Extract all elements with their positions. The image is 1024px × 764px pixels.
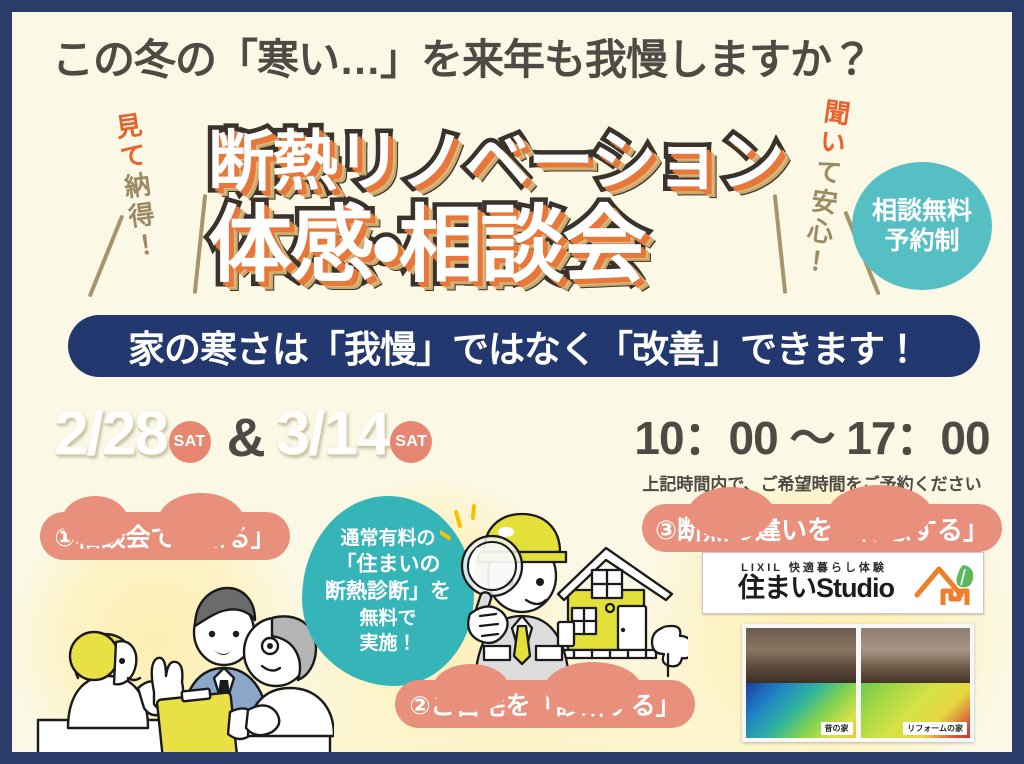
badge-line2: 予約制: [884, 226, 959, 257]
decor-slash-3: [773, 194, 787, 294]
date-2: 3/14: [276, 398, 389, 469]
kicker-right: 聞いて安心！: [795, 96, 857, 279]
kicker-right-orange: 聞い: [814, 97, 852, 161]
diagnosis-line1: 通常有料の: [325, 526, 451, 551]
kicker-left: 見て納得！: [108, 110, 166, 264]
poster-root: この冬の「寒い…」を来年も我慢しますか？ 見て納得！ 聞いて安心！ 断熱リノベー…: [0, 0, 1024, 764]
free-consult-badge: 相談無料 予約制: [852, 162, 992, 290]
event-time: 10：00 ～ 17：00: [617, 402, 1007, 468]
thermal-photo-old: 昔の家: [746, 683, 856, 738]
diagnosis-line3: 断熱診断」を: [325, 578, 451, 606]
kicker-left-brown: 納得！: [119, 170, 161, 263]
decor-slash-1: [88, 214, 125, 297]
date-1: 2/28: [54, 398, 167, 469]
decor-slash-2: [193, 194, 207, 294]
room-photo-renovated: [861, 628, 971, 683]
step-3-bubble: ③断熱の違いを「体感する」: [642, 504, 1002, 552]
house-leaf-icon: [913, 561, 975, 607]
kicker-right-brown: て安心！: [798, 156, 844, 279]
page-headline: この冬の「寒い…」を来年も我慢しますか？: [52, 26, 1002, 87]
photo-label-old: 昔の家: [821, 722, 853, 735]
photo-pair-old: 昔の家: [746, 628, 856, 738]
kicker-left-orange: 見て: [111, 111, 149, 175]
date-conjunction: &: [227, 407, 266, 469]
event-dates: 2/28 SAT & 3/14 SAT: [54, 398, 438, 469]
photo-label-renovated: リフォームの家: [903, 722, 967, 735]
event-time-note: 上記時間内で、ご希望時間をご予約ください: [617, 470, 1007, 495]
step-2-bubble: ②ご自宅を「診断する」: [395, 680, 695, 728]
thermal-photo-renovated: リフォームの家: [861, 683, 971, 738]
date-2-day-badge: SAT: [390, 421, 432, 463]
photo-pair-renovated: リフォームの家: [861, 628, 971, 738]
diagnosis-line2: 「住まいの: [325, 551, 451, 579]
badge-line1: 相談無料: [872, 196, 972, 227]
main-title-line2: 体感・相談会: [208, 178, 768, 299]
studio-photo-comparison: 昔の家 リフォームの家: [742, 624, 974, 742]
event-time-block: 10：00 ～ 17：00 上記時間内で、ご希望時間をご予約ください: [617, 402, 1007, 495]
date-1-day-badge: SAT: [169, 421, 211, 463]
diagnosis-line5: 実施！: [325, 631, 451, 656]
consultation-illustration: [34, 560, 334, 764]
room-photo-old: [746, 628, 856, 683]
main-title: 断熱リノベーション 体感・相談会: [208, 108, 768, 298]
sumai-studio-logo: LIXIL 快適暮らし体験 住まいStudio: [702, 552, 984, 614]
diagnosis-line4: 無料で: [325, 606, 451, 631]
step-1-bubble: ①相談会で「知る」: [40, 512, 290, 560]
message-banner: 家の寒さは「我慢」ではなく「改善」できます！: [68, 315, 980, 377]
